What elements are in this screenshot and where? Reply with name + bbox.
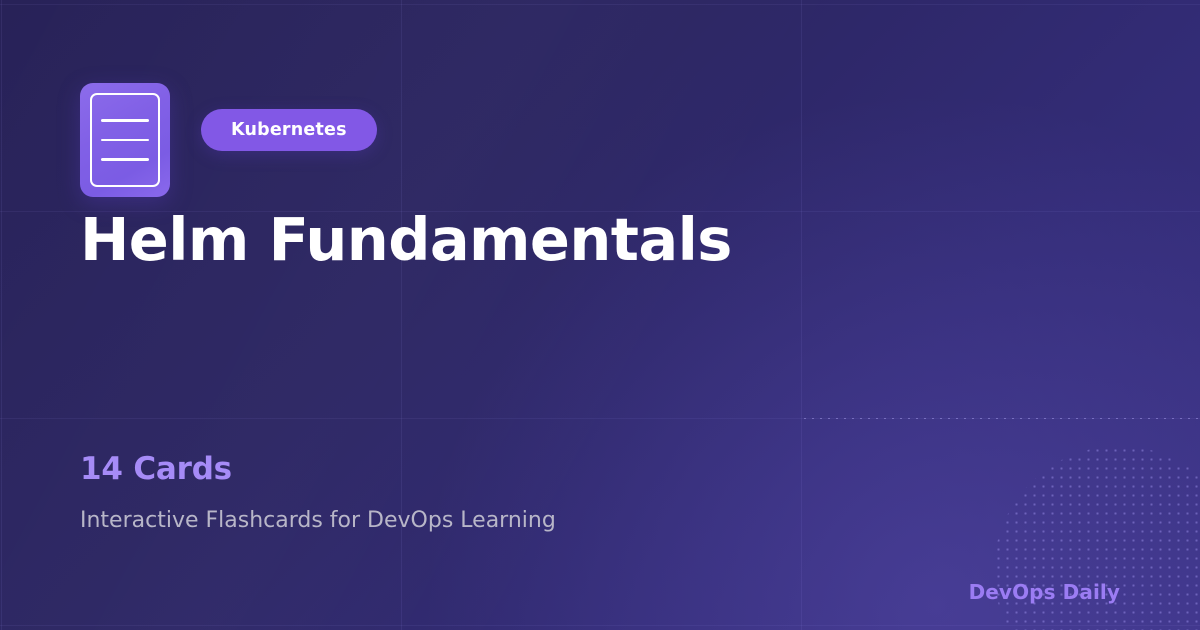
flashcard-icon-line — [101, 139, 149, 142]
card-count-label: 14 Cards — [80, 450, 232, 488]
flashcard-icon — [80, 83, 170, 197]
subtitle: Interactive Flashcards for DevOps Learni… — [80, 506, 556, 536]
brand-wordmark: DevOps Daily — [969, 580, 1120, 604]
page-title: Helm Fundamentals — [80, 203, 732, 277]
flashcard-icon-line — [101, 119, 149, 122]
flashcard-icon-line — [101, 158, 149, 161]
header-row: Kubernetes — [80, 83, 377, 197]
flashcard-og-card: Kubernetes Helm Fundamentals 14 Cards In… — [0, 0, 1200, 630]
flashcard-icon-inner — [90, 93, 160, 187]
card-content: Kubernetes Helm Fundamentals 14 Cards In… — [0, 0, 1200, 630]
category-badge[interactable]: Kubernetes — [201, 109, 377, 151]
